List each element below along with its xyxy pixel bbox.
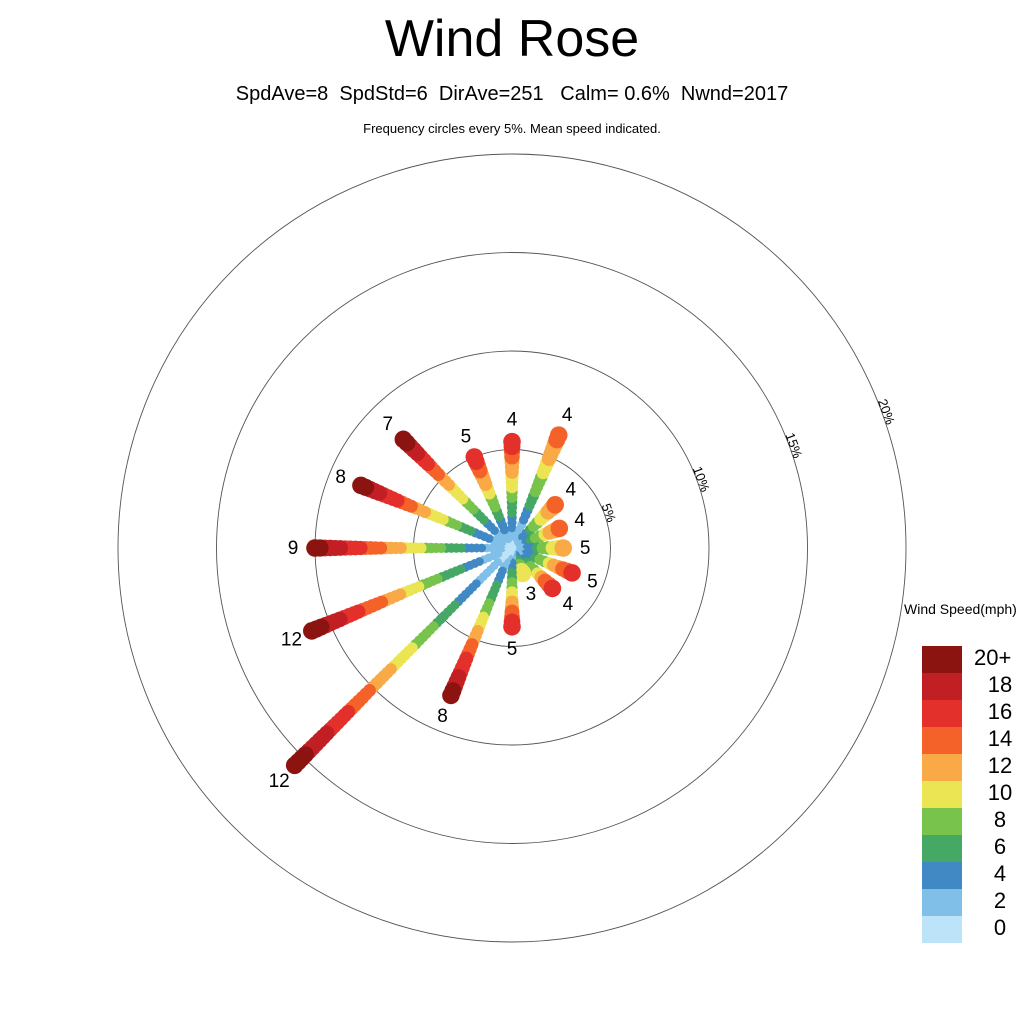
- wind-rose-petal: [286, 544, 516, 774]
- radial-tick-label: 15%: [782, 431, 805, 461]
- petal-mean-speed-label: 5: [587, 571, 598, 592]
- petal-segment: [466, 448, 484, 466]
- petal-mean-speed-label: 12: [269, 771, 290, 792]
- petal-segment: [551, 520, 569, 538]
- legend-swatch-16[interactable]: [922, 700, 962, 727]
- petal-segment: [554, 539, 572, 557]
- legend-swatch-8[interactable]: [922, 808, 962, 835]
- petal-mean-speed-label: 4: [574, 510, 585, 531]
- petal-mean-speed-label: 4: [507, 410, 518, 431]
- petal-mean-speed-label: 8: [437, 706, 448, 727]
- petal-mean-speed-label: 4: [562, 405, 573, 426]
- petal-segment: [306, 539, 324, 557]
- legend-label-10: 10: [974, 780, 1024, 806]
- petal-mean-speed-label: 4: [563, 594, 574, 615]
- legend-swatch-12[interactable]: [922, 754, 962, 781]
- petal-segment: [546, 496, 564, 514]
- legend-label-12: 12: [974, 753, 1024, 779]
- petal-mean-speed-label: 5: [507, 639, 518, 660]
- petal-segment: [563, 564, 581, 582]
- wind-rose-plot: 5%10%15%20% 444455435812129875: [0, 0, 1024, 1024]
- legend-label-8: 8: [974, 807, 1024, 833]
- petal-mean-speed-label: 5: [461, 427, 472, 448]
- radial-tick-label: 10%: [690, 464, 713, 494]
- legend-label-2: 2: [974, 888, 1024, 914]
- petal-segment: [395, 431, 413, 449]
- petal-mean-speed-label: 7: [383, 414, 394, 435]
- legend-label-0: 0: [974, 915, 1024, 941]
- petal-mean-speed-label: 12: [281, 629, 302, 650]
- petal-segment: [352, 477, 370, 495]
- legend-label-18: 18: [974, 672, 1024, 698]
- legend-swatch-6[interactable]: [922, 835, 962, 862]
- petal-mean-speed-label: 5: [580, 538, 591, 559]
- petal-mean-speed-label: 3: [526, 584, 537, 605]
- legend-label-6: 6: [974, 834, 1024, 860]
- petal-segment: [544, 580, 562, 598]
- wind-rose-petal: [306, 539, 516, 557]
- legend-swatch-2[interactable]: [922, 889, 962, 916]
- legend-swatch-14[interactable]: [922, 727, 962, 754]
- radial-tick-label: 20%: [875, 397, 898, 427]
- petal-mean-speed-label: 8: [335, 467, 346, 488]
- legend-swatch-20plus[interactable]: [922, 646, 962, 673]
- legend-label-20plus: 20+: [974, 645, 1024, 671]
- radial-tick-label: 5%: [599, 501, 620, 524]
- wind-rose-petal: [395, 431, 517, 553]
- petal-segment: [303, 622, 321, 640]
- legend-title: Wind Speed(mph): [904, 601, 1017, 617]
- legend-swatch-18[interactable]: [922, 673, 962, 700]
- legend-label-16: 16: [974, 699, 1024, 725]
- legend-colorbar[interactable]: 20+181614121086420: [922, 646, 1024, 943]
- legend-label-14: 14: [974, 726, 1024, 752]
- legend-swatch-4[interactable]: [922, 862, 962, 889]
- legend-swatch-10[interactable]: [922, 781, 962, 808]
- wind-rose-petals: [286, 426, 581, 774]
- petal-segment: [442, 687, 460, 705]
- petal-segment: [550, 426, 568, 444]
- petal-mean-speed-label: 4: [565, 479, 576, 500]
- radial-tick-labels: 5%10%15%20%: [599, 397, 899, 525]
- petal-segment: [503, 433, 521, 451]
- petal-mean-speed-label: 9: [288, 538, 299, 559]
- petal-segment: [503, 618, 521, 636]
- legend-swatch-0[interactable]: [922, 916, 962, 943]
- wind-rose-page: Wind Rose SpdAve=8 SpdStd=6 DirAve=251 C…: [0, 0, 1024, 1024]
- legend-label-4: 4: [974, 861, 1024, 887]
